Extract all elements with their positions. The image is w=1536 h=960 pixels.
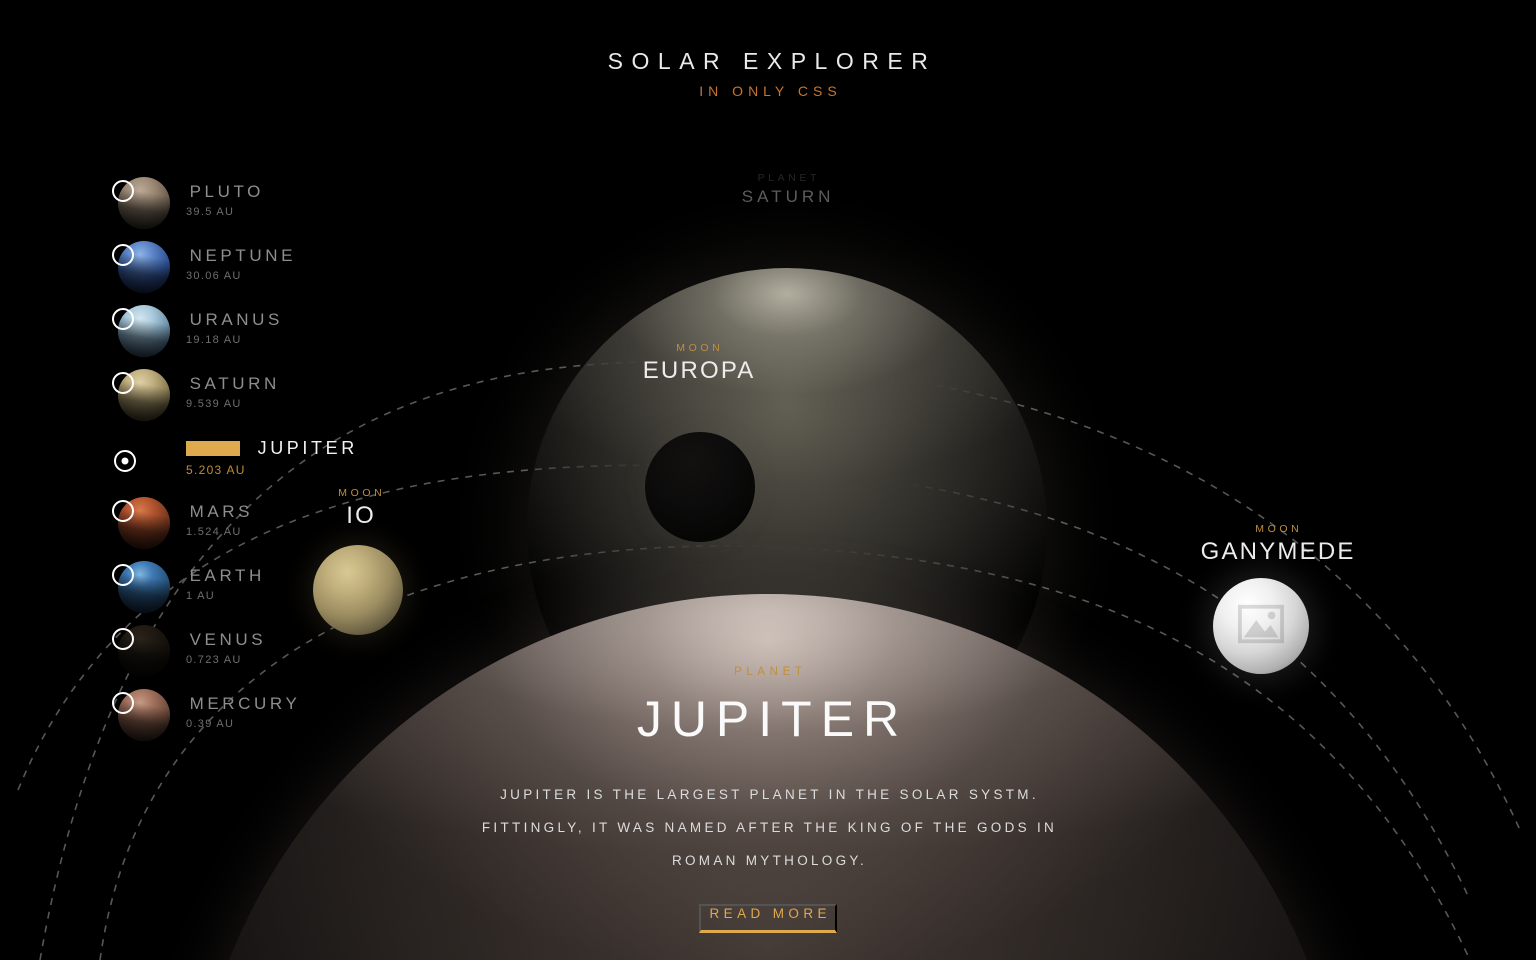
planet-radio-venus[interactable] [112,628,134,650]
planet-list-item-name: NEPTUNE [186,246,296,266]
read-more-button[interactable]: READ MORE [699,904,837,933]
moon-ganymede-name: GANYMEDE [1198,538,1355,566]
planet-list-item-name: EARTH [186,566,265,586]
page-header: SOLAR EXPLORER IN ONLY CSS [0,48,1536,99]
planet-list-item-distance: 19.18 AU [186,334,283,346]
planet-list-item-name: PLUTO [186,182,264,202]
planet-description: JUPITER IS THE LARGEST PLANET IN THE SOL… [338,778,1198,877]
planet-list-item-distance: 1 AU [186,590,265,602]
planet-list-item-name: MARS [186,502,253,522]
moon-europa-kind: MOON [641,342,756,354]
planet-list-item-name: URANUS [186,310,283,330]
planet-list-item-name-text: MARS [186,502,253,522]
planet-radio-saturn[interactable] [112,372,134,394]
moon-ganymede-sphere[interactable] [1213,578,1309,674]
planet-list-item-name-text: URANUS [186,310,283,330]
page-subtitle: IN ONLY CSS [0,83,1536,99]
planet-list-item-name-text: NEPTUNE [186,246,296,266]
planet-list-item-info: SATURN9.539 AU [186,374,280,410]
planet-list-item-earth[interactable]: EARTH1 AU [108,556,408,620]
planet-list-item-name: MERCURY [186,694,300,714]
planet-radio-mercury[interactable] [112,692,134,714]
planet-list-item-name-text: PLUTO [186,182,264,202]
planet-description-line: ROMAN MYTHOLOGY. [398,844,1138,877]
planet-list-item-info: VENUS0.723 AU [186,630,266,666]
previous-planet-label: PLANET SATURN [740,172,835,207]
moon-europa-name: EUROPA [641,357,756,385]
planet-list-item-name-text: SATURN [186,374,280,394]
planet-description-line: JUPITER IS THE LARGEST PLANET IN THE SOL… [398,778,1138,811]
planet-selector-list[interactable]: PLUTO39.5 AUNEPTUNE30.06 AUURANUS19.18 A… [108,172,408,748]
broken-image-icon [1238,604,1284,644]
planet-list-item-pluto[interactable]: PLUTO39.5 AU [108,172,408,236]
planet-list-item-name: JUPITER [186,438,358,459]
planet-list-item-name-text: MERCURY [186,694,300,714]
planet-list-item-name: VENUS [186,630,266,650]
planet-list-item-distance: 9.539 AU [186,398,280,410]
planet-list-item-distance: 0.723 AU [186,654,266,666]
planet-list-item-info: URANUS19.18 AU [186,310,283,346]
planet-list-item-distance: 0.39 AU [186,718,300,730]
selected-indicator-bar [186,441,240,456]
moon-ganymede-label: MOON GANYMEDE [1198,523,1355,566]
planet-description-line: FITTINGLY, IT WAS NAMED AFTER THE KING O… [398,811,1138,844]
planet-list-item-mars[interactable]: MARS1.524 AU [108,492,408,556]
planet-list-item-name-text: JUPITER [254,438,358,459]
planet-list-item-name: SATURN [186,374,280,394]
planet-list-item-distance: 1.524 AU [186,526,253,538]
planet-kind-label: PLANET [338,666,1198,678]
planet-radio-uranus[interactable] [112,308,134,330]
page-title: SOLAR EXPLORER [0,48,1536,75]
planet-list-item-info: PLUTO39.5 AU [186,182,264,218]
planet-list-item-neptune[interactable]: NEPTUNE30.06 AU [108,236,408,300]
planet-list-item-info: NEPTUNE30.06 AU [186,246,296,282]
planet-list-item-jupiter[interactable]: JUPITER5.203 AU [108,428,408,492]
planet-list-item-distance: 30.06 AU [186,270,296,282]
planet-list-item-info: EARTH1 AU [186,566,265,602]
previous-planet-kind: PLANET [740,172,835,184]
planet-radio-pluto[interactable] [112,180,134,202]
moon-ganymede-kind: MOON [1198,523,1355,535]
moon-europa-sphere[interactable] [645,432,755,542]
planet-name-heading: JUPITER [338,690,1198,748]
solar-explorer-app: SOLAR EXPLORER IN ONLY CSS PLANET SATURN… [0,0,1536,960]
planet-list-item-saturn[interactable]: SATURN9.539 AU [108,364,408,428]
planet-radio-earth[interactable] [112,564,134,586]
planet-list-item-info: MARS1.524 AU [186,502,253,538]
planet-list-item-distance: 39.5 AU [186,206,264,218]
planet-list-item-info: JUPITER5.203 AU [186,438,358,477]
planet-info-panel: PLANET JUPITER JUPITER IS THE LARGEST PL… [338,666,1198,933]
previous-planet-name: SATURN [740,187,835,207]
planet-list-item-uranus[interactable]: URANUS19.18 AU [108,300,408,364]
planet-list-item-name-text: VENUS [186,630,266,650]
planet-radio-neptune[interactable] [112,244,134,266]
planet-list-item-distance: 5.203 AU [186,463,358,477]
planet-list-item-name-text: EARTH [186,566,265,586]
moon-europa-label: MOON EUROPA [641,342,756,385]
planet-list-item-info: MERCURY0.39 AU [186,694,300,730]
planet-radio-mars[interactable] [112,500,134,522]
planet-radio-jupiter[interactable] [114,450,136,472]
